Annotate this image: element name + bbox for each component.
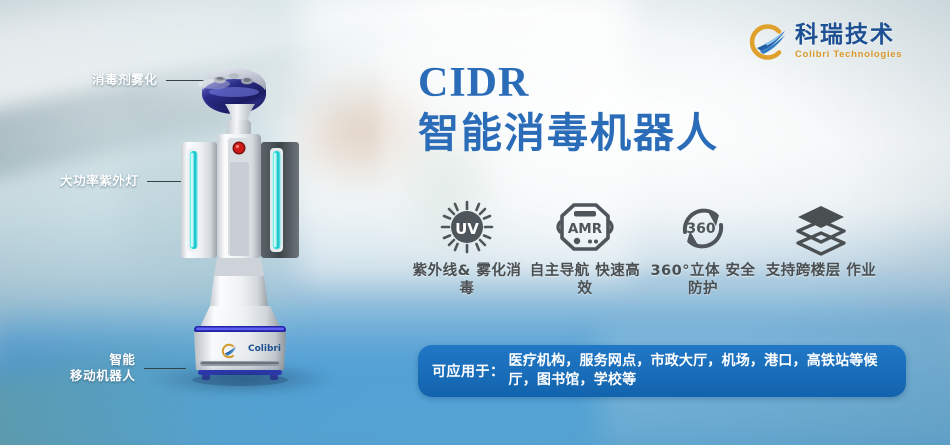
svg-text:UV: UV — [455, 220, 479, 238]
svg-text:AMR: AMR — [568, 221, 603, 237]
product-code: CIDR — [418, 62, 719, 104]
application-label: 可应用于： — [418, 361, 505, 381]
callout-label: 大功率紫外灯 — [60, 173, 139, 189]
application-banner: 可应用于： 医疗机构，服务网点，市政大厅，机场，港口，高铁站等候厅，图书馆，学校… — [418, 345, 906, 397]
feature-label: 360°立体 安全防护 — [644, 262, 762, 298]
application-text: 医疗机构，服务网点，市政大厅，机场，港口，高铁站等候厅，图书馆，学校等 — [505, 352, 907, 390]
headline-block: CIDR 智能消毒机器人 — [418, 62, 719, 157]
feature-item-360: 360 360°立体 安全防护 — [644, 198, 762, 298]
colibri-bird-c-logo-icon — [745, 22, 789, 62]
callout-label: 智能 移动机器人 — [70, 352, 136, 385]
robot-graphic: Colibri — [172, 62, 308, 392]
feature-item-multifloor: 支持跨楼层 作业 — [762, 198, 880, 280]
feature-list: UV 紫外线& 雾化消毒 — [408, 198, 908, 308]
product-banner: 科瑞技术 Colibri Technologies CIDR 智能消毒机器人 U… — [0, 0, 950, 445]
feature-label: 支持跨楼层 作业 — [766, 262, 877, 280]
robot-floor-shadow — [148, 362, 338, 396]
stacked-layers-icon — [790, 198, 852, 260]
product-title: 智能消毒机器人 — [418, 109, 719, 157]
disinfection-robot-image: Colibri — [172, 62, 308, 392]
feature-label: 紫外线& 雾化消毒 — [408, 262, 526, 298]
company-logo: 科瑞技术 Colibri Technologies — [745, 16, 945, 68]
feature-item-uv: UV 紫外线& 雾化消毒 — [408, 198, 526, 298]
logo-name-en: Colibri Technologies — [795, 50, 902, 60]
logo-name-cn: 科瑞技术 — [795, 24, 902, 47]
rotate-360-icon: 360 — [672, 198, 734, 260]
uv-sun-icon: UV — [436, 198, 498, 260]
svg-text:Colibri: Colibri — [248, 344, 281, 354]
amr-robot-icon: AMR — [554, 198, 616, 260]
callout-label: 消毒剂雾化 — [92, 72, 158, 88]
feature-item-amr: AMR 自主导航 快速高效 — [526, 198, 644, 298]
svg-text:360: 360 — [686, 221, 715, 237]
feature-label: 自主导航 快速高效 — [526, 262, 644, 298]
